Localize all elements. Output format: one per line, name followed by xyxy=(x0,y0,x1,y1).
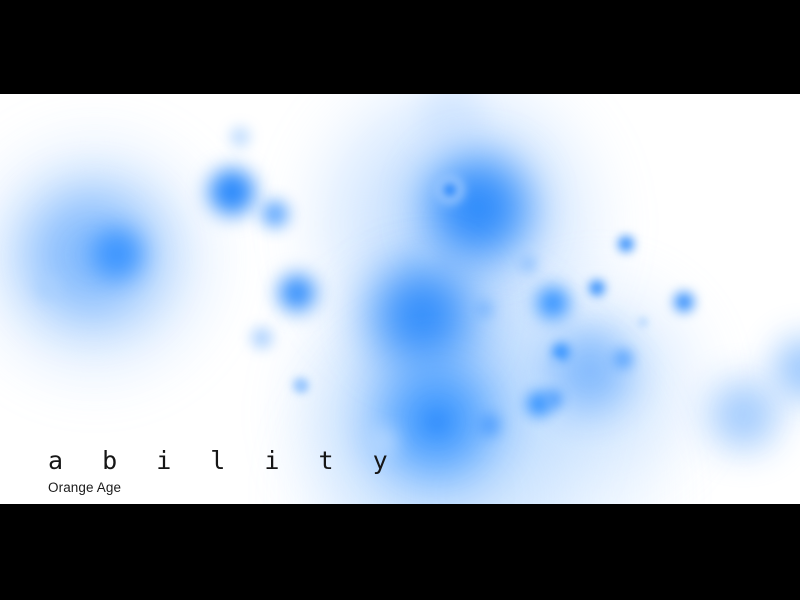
dot-tiny-640 xyxy=(638,317,648,327)
circle-right-553 xyxy=(536,286,570,320)
wash-center xyxy=(290,94,620,389)
letterbox-bar-top xyxy=(0,0,800,94)
ring-top-faint xyxy=(418,94,486,156)
circle-upper-left-sm xyxy=(261,200,289,228)
dot-mid-left xyxy=(407,253,433,279)
dot-right-288 xyxy=(589,280,605,296)
dot-lower-core xyxy=(424,409,450,435)
video-frame: a b i l i t y Orange Age xyxy=(0,0,800,600)
dot-top-overlap xyxy=(443,183,457,197)
dot-left-mid-pale xyxy=(251,327,273,349)
subtitle: Orange Age xyxy=(48,480,400,496)
dot-right-554 xyxy=(549,359,559,369)
blob-left-large xyxy=(30,193,154,317)
blob-far-right-pale xyxy=(708,379,780,451)
blob-top-big xyxy=(426,156,530,260)
dot-center-small xyxy=(476,300,494,318)
blob-right-pale xyxy=(548,329,632,413)
dot-lower-488 xyxy=(478,414,500,436)
dot-top-pale xyxy=(230,127,250,147)
circle-mid-left xyxy=(278,274,316,312)
dot-right-244 xyxy=(618,236,634,252)
blob-left-core xyxy=(91,228,143,280)
dot-bottom-302 xyxy=(296,380,308,392)
circle-lower-553 xyxy=(545,390,563,408)
circle-upper-left xyxy=(208,168,256,216)
wash-left xyxy=(0,124,230,394)
dot-left-small xyxy=(37,277,59,299)
page-title: a b i l i t y xyxy=(48,446,400,476)
blob-center-large xyxy=(372,265,472,365)
letterbox-bar-bottom xyxy=(0,504,800,600)
title-caption: a b i l i t y Orange Age xyxy=(48,446,400,496)
blob-right-edge xyxy=(773,337,800,401)
circle-lower-538 xyxy=(526,391,552,417)
dot-mid-right-top xyxy=(519,255,537,273)
dot-right-624 xyxy=(613,349,633,369)
wash-right xyxy=(480,264,720,504)
dot-right-core xyxy=(552,343,570,361)
dot-290-385 xyxy=(293,378,307,392)
bokeh-artwork: a b i l i t y Orange Age xyxy=(0,94,800,504)
dot-far-right-303 xyxy=(674,292,694,312)
ring-top-overlap xyxy=(435,175,465,205)
